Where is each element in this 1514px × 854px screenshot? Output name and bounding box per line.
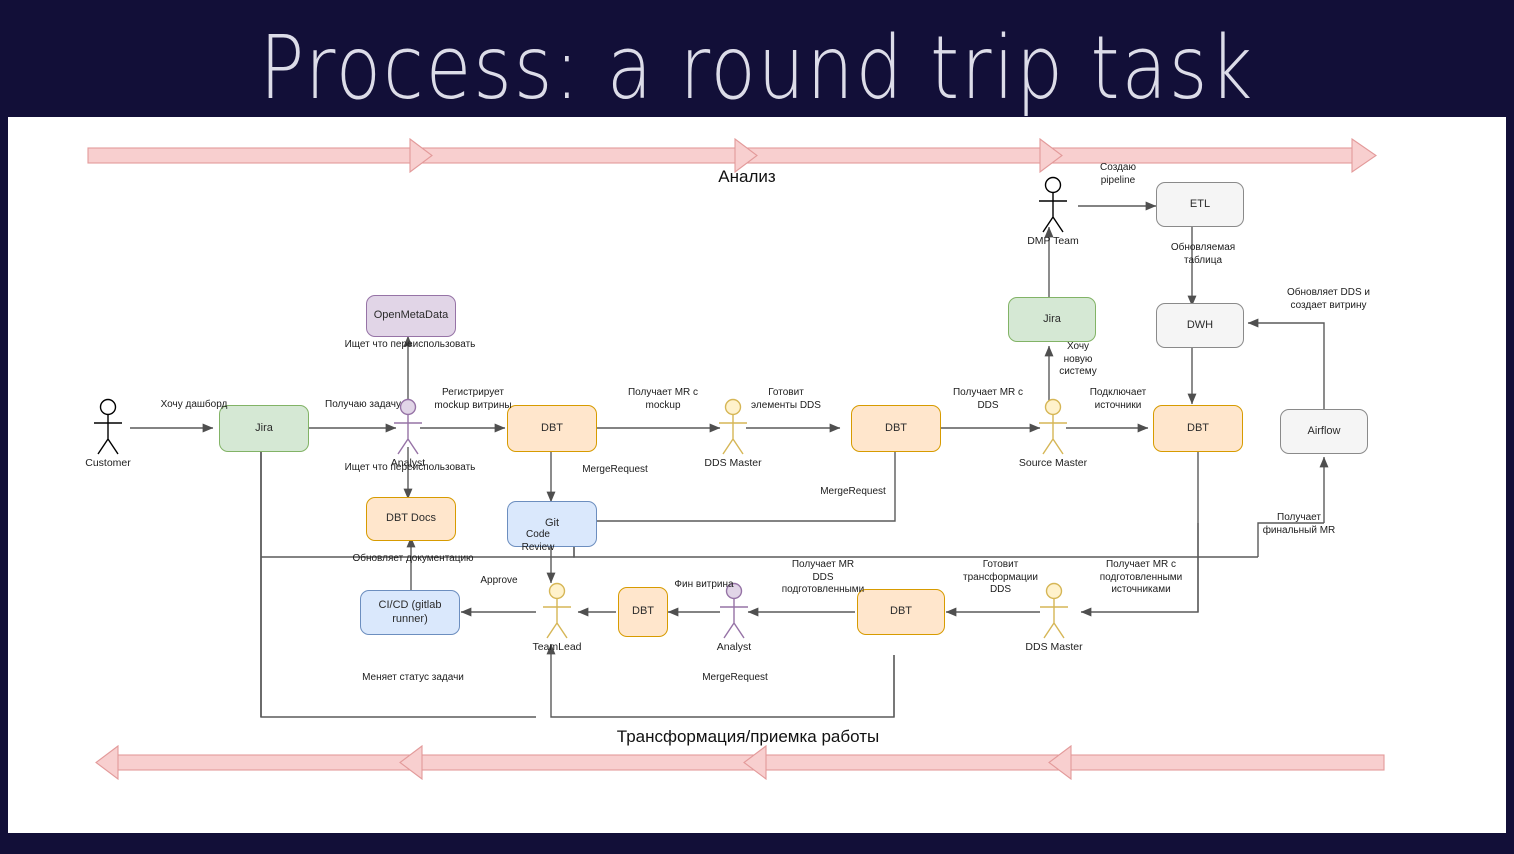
edge-label-want-new-system: Хочу новую систему	[1038, 341, 1118, 379]
node-label: CI/CD (gitlab runner)	[365, 599, 455, 627]
actor-layer	[8, 117, 1506, 833]
actor-label-teamlead: TeamLead	[517, 641, 597, 653]
edge-label-want-dashboard: Хочу дашборд	[139, 399, 249, 412]
actor-label-customer: Customer	[68, 457, 148, 469]
node-jira-dmp[interactable]: Jira	[1008, 297, 1096, 342]
node-label: Jira	[1043, 313, 1061, 327]
node-cicd[interactable]: CI/CD (gitlab runner)	[360, 590, 460, 635]
actor-label-source-master: Source Master	[998, 457, 1108, 469]
edge-label-approve: Approve	[454, 575, 544, 588]
edge-label-receive-final-mr: Получает финальный MR	[1244, 512, 1354, 537]
node-label: DBT	[632, 605, 654, 619]
edge-label-code-review: Code Review	[511, 529, 565, 554]
edge-label-receive-mr-dds: Получает MR с DDS	[933, 387, 1043, 412]
edge-label-change-task-status: Меняет статус задачи	[338, 672, 488, 685]
edge-label-prepare-dds-elements: Готовит элементы DDS	[726, 387, 846, 412]
actor-label-dds-master-top: DDS Master	[683, 457, 783, 469]
actor-analyst-bottom	[720, 584, 748, 639]
actor-teamlead	[543, 584, 571, 639]
node-label: DBT	[1187, 422, 1209, 436]
actor-dmp-team	[1039, 178, 1067, 233]
node-label: DBT	[885, 422, 907, 436]
edge-label-register-mockup: Регистрирует mockup витрины	[418, 387, 528, 412]
actor-customer	[94, 400, 122, 455]
diagram-canvas: Анализ Трансформация/приемка работы	[8, 117, 1506, 833]
edge-label-receive-mr-prepared-sources: Получает MR с подготовленными источникам…	[1076, 559, 1206, 597]
node-dbt-docs[interactable]: DBT Docs	[366, 497, 456, 541]
node-label: DBT Docs	[386, 512, 436, 526]
node-etl[interactable]: ETL	[1156, 182, 1244, 227]
node-dbt-final[interactable]: DBT	[618, 587, 668, 637]
edge-label-receive-mr-dds-prepared: Получает MR DDS подготовленными	[758, 559, 888, 597]
node-openmetadata[interactable]: OpenMetaData	[366, 295, 456, 337]
node-jira-main[interactable]: Jira	[219, 405, 309, 452]
edge-label-create-pipeline: Создаю pipeline	[1078, 162, 1158, 187]
slide: Process: a round trip task	[0, 0, 1514, 854]
edge-label-final-showcase: Фин витрина	[662, 579, 746, 592]
node-label: ETL	[1190, 198, 1210, 212]
node-dbt-sources[interactable]: DBT	[1153, 405, 1243, 452]
actor-label-dds-master-bottom: DDS Master	[1004, 641, 1104, 653]
edge-label-receive-mr-mockup: Получает MR с mockup	[608, 387, 718, 412]
node-label: DWH	[1187, 319, 1213, 333]
node-dbt-dds[interactable]: DBT	[851, 405, 941, 452]
edge-label-find-reuse-bottom: Ищет что переиспользовать	[330, 462, 490, 475]
edge-label-updatable-table: Обновляемая таблица	[1153, 242, 1253, 267]
edge-label-mergerequest-1: MergeRequest	[560, 464, 670, 477]
node-dwh[interactable]: DWH	[1156, 303, 1244, 348]
edge-label-prepare-dds-transform: Готовит трансформации DDS	[943, 559, 1058, 597]
actor-label-dmp-team: DMP Team	[1003, 235, 1103, 247]
node-airflow[interactable]: Airflow	[1280, 409, 1368, 454]
node-label: DBT	[541, 422, 563, 436]
edge-label-update-docs: Обновляет документацию	[328, 553, 498, 566]
node-label: Jira	[255, 422, 273, 436]
edge-label-update-dds-create-showcase: Обновляет DDS и создает витрину	[1266, 287, 1391, 312]
edge-label-receive-task: Получаю задачу	[308, 399, 418, 412]
edge-label-find-reuse-top: Ищет что переиспользовать	[330, 339, 490, 352]
node-label: OpenMetaData	[374, 309, 449, 323]
actor-label-analyst-bottom: Analyst	[694, 641, 774, 653]
edge-label-mergerequest-2: MergeRequest	[798, 486, 908, 499]
node-label: Airflow	[1307, 425, 1340, 439]
edge-label-mergerequest-3: MergeRequest	[680, 672, 790, 685]
node-dbt-mockup[interactable]: DBT	[507, 405, 597, 452]
node-label: DBT	[890, 605, 912, 619]
edge-label-connect-sources: Подключает источники	[1063, 387, 1173, 412]
page-title: Process: a round trip task	[0, 18, 1514, 119]
